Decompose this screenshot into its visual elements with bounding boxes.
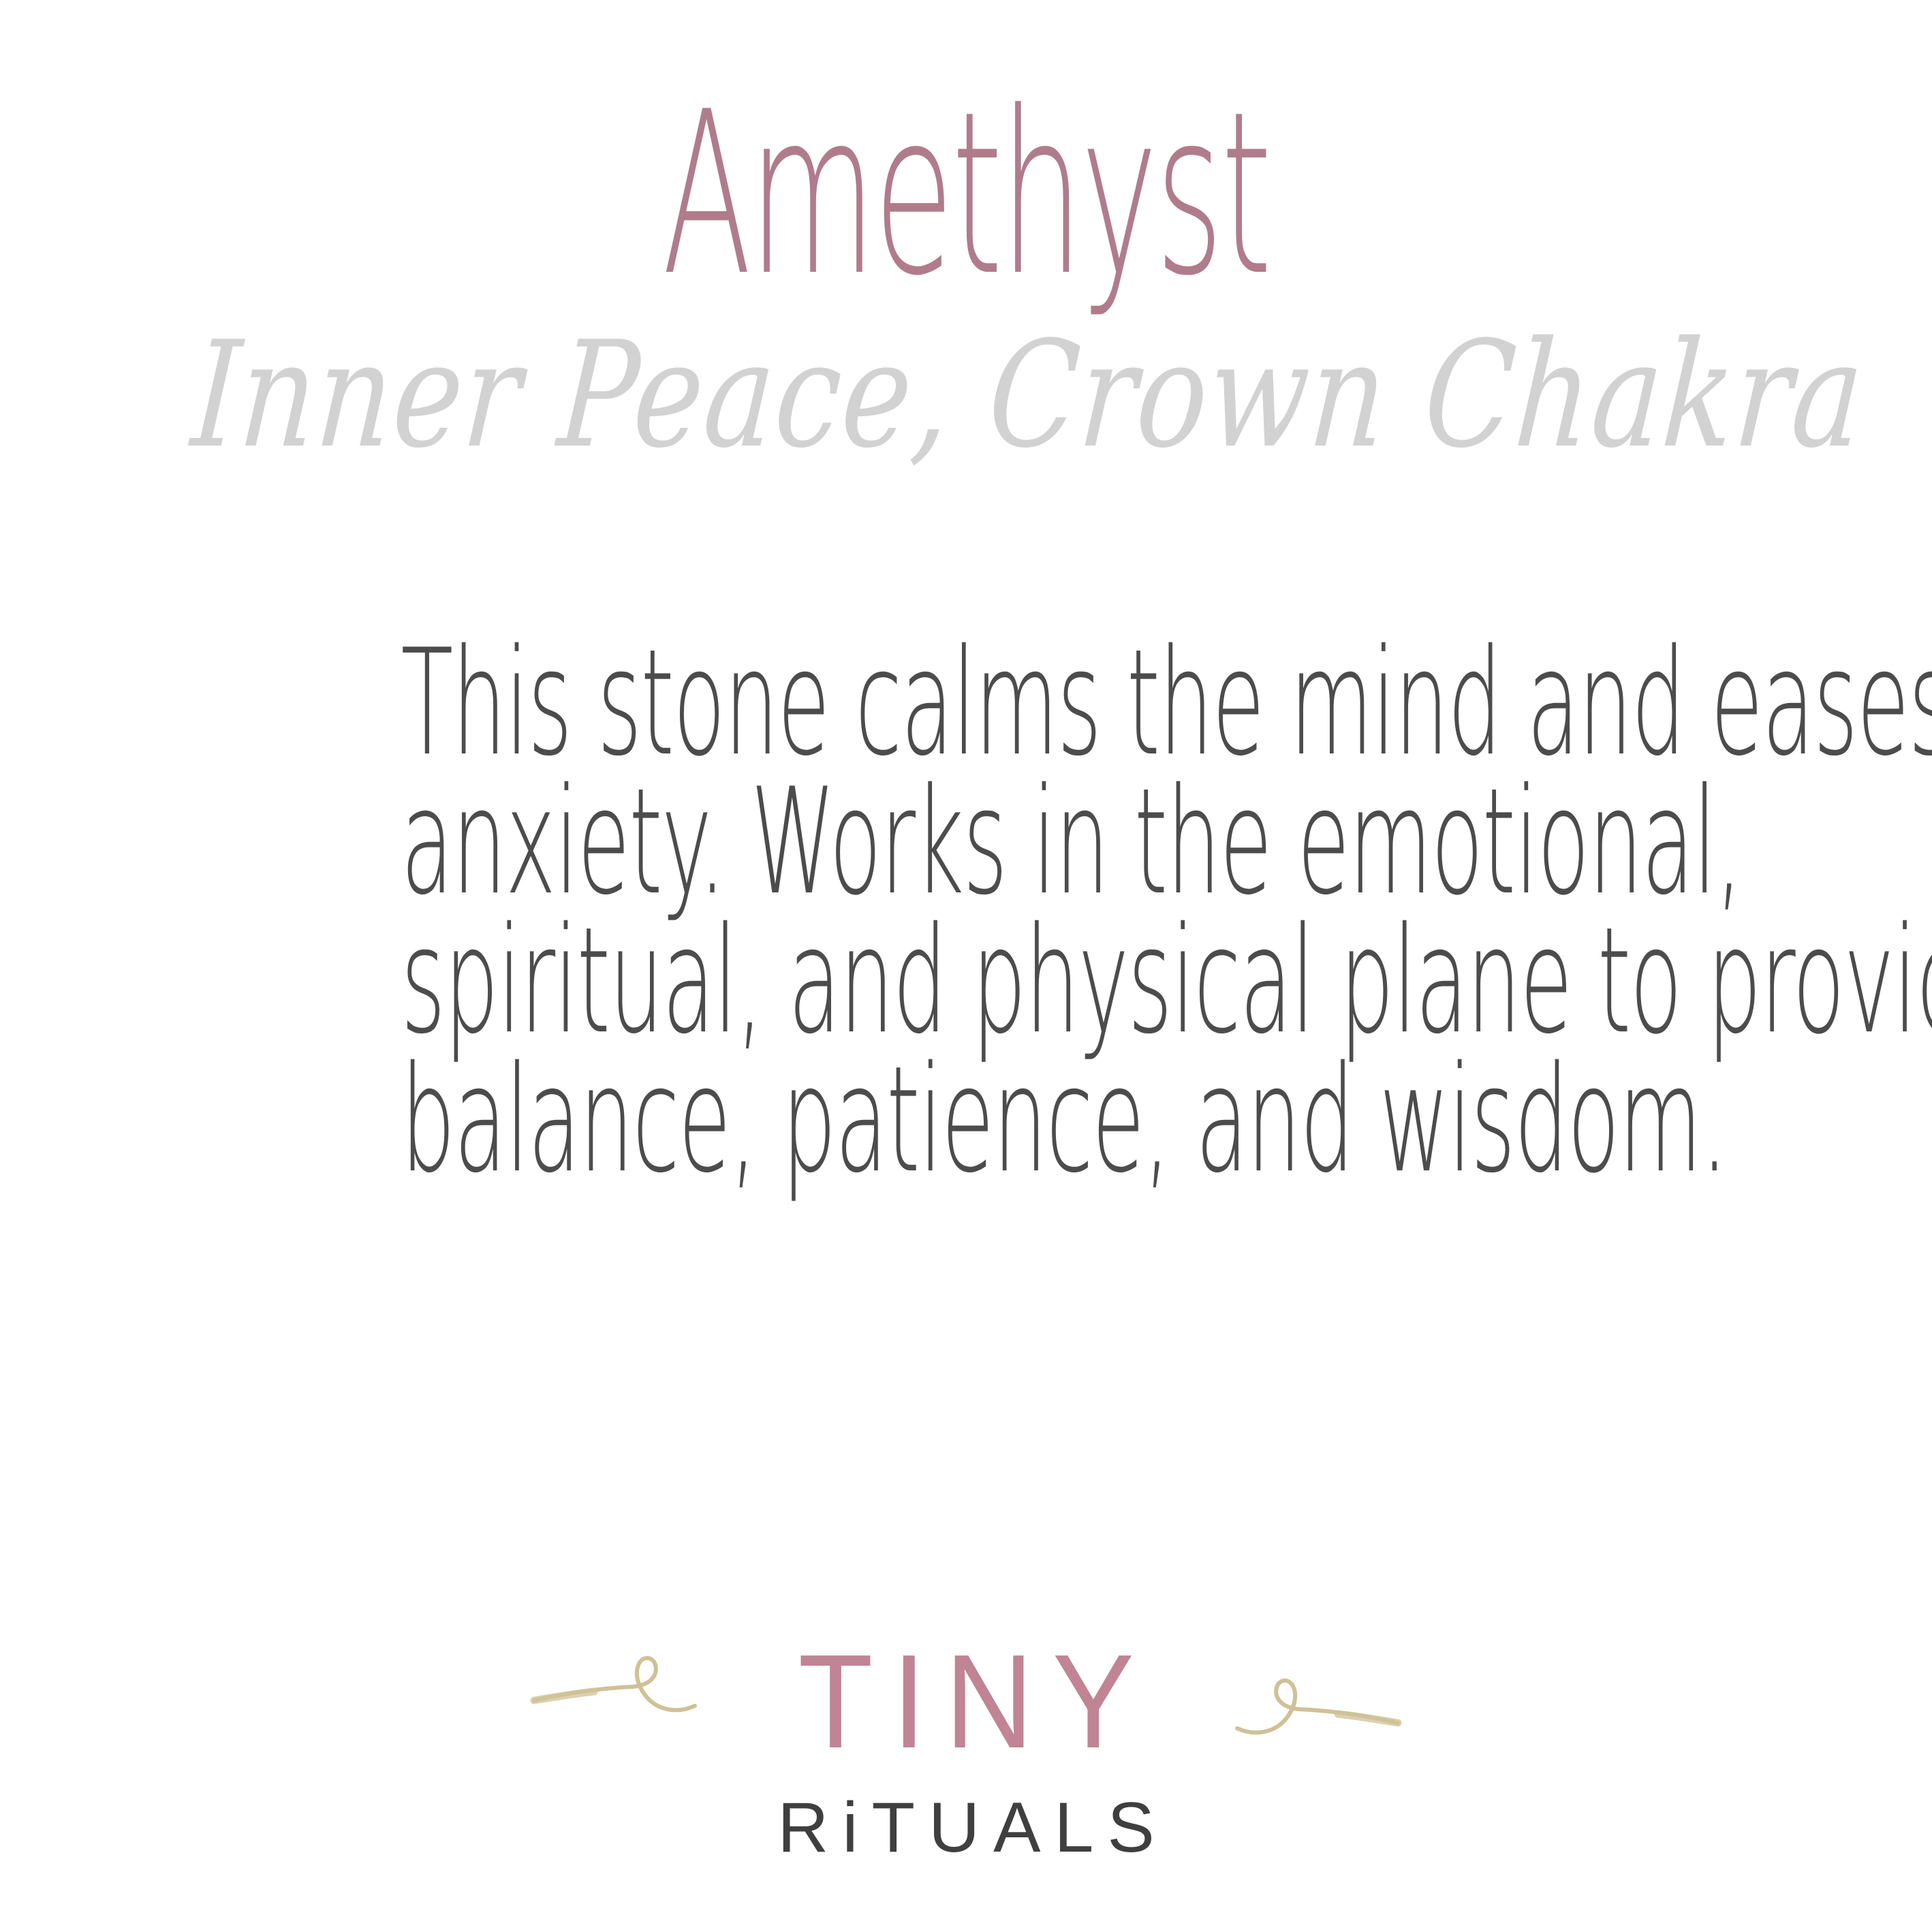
page-title: Amethyst — [406, 82, 1527, 307]
brand-wordmark: TINY — [779, 1634, 1153, 1770]
description-block: This stone calms the mind and eases anxi… — [0, 634, 1932, 1189]
description-line: balance, patience, and wisdom. — [401, 1050, 1531, 1189]
page-subtitle: Inner Peace, Crown Chakra — [188, 322, 1744, 468]
flourish-swash-left-icon — [529, 1635, 733, 1751]
description-line: spiritual, and physical plane to provide — [401, 912, 1531, 1050]
brand-logo-row: TINY — [0, 1628, 1932, 1775]
brand-logo: TINY RiTUALS — [0, 1628, 1932, 1914]
flourish-swash-right-icon — [1199, 1657, 1403, 1773]
crystal-meaning-card: Amethyst Inner Peace, Crown Chakra This … — [0, 0, 1932, 1932]
description-line: anxiety. Works in the emotional, — [401, 773, 1531, 912]
brand-subwordmark: RiTUALS — [0, 1790, 1932, 1865]
description-line: This stone calms the mind and eases — [401, 634, 1531, 773]
